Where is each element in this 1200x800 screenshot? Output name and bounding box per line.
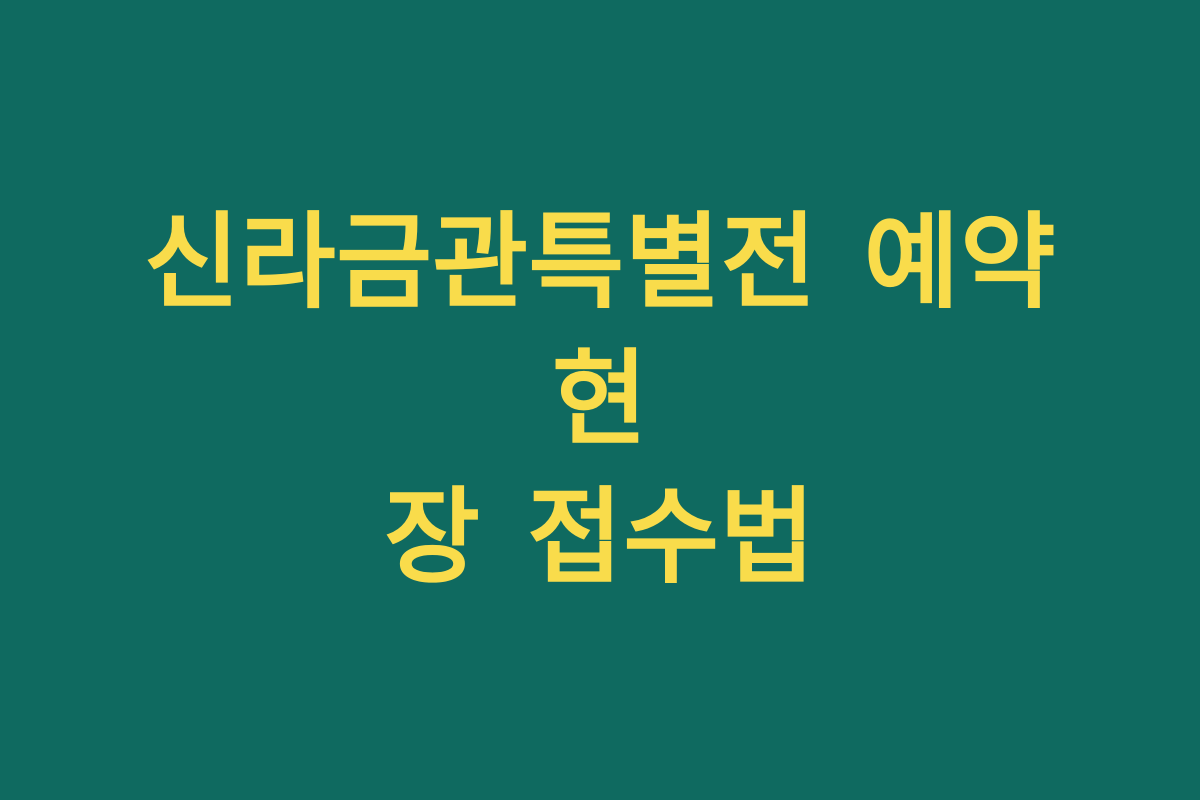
page-title: 신라금관특별전 예약 현 장 접수법 [100, 194, 1100, 606]
headline-line-1: 신라금관특별전 예약 현 [100, 194, 1100, 469]
headline-line-2: 장 접수법 [100, 469, 1100, 606]
headline-block: 신라금관특별전 예약 현 장 접수법 [80, 194, 1120, 606]
poster-canvas: 신라금관특별전 예약 현 장 접수법 [0, 0, 1200, 800]
